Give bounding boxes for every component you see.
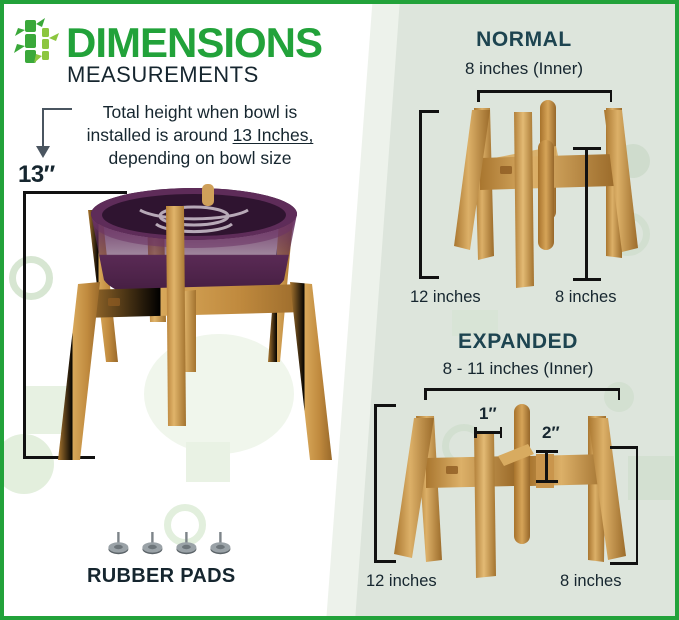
normal-width-bracket-vert — [419, 110, 422, 278]
rail-height-marker-vert — [545, 450, 548, 482]
expanded-height-bracket-top — [610, 446, 638, 449]
callout-text: Total height when bowl is installed is a… — [66, 101, 334, 170]
callout-emphasis: 13 Inches, — [233, 125, 314, 145]
dimensions-infographic: DIMENSIONS MEASUREMENTS Total height whe… — [0, 0, 679, 620]
rubber-pad-tack-icon — [141, 531, 164, 557]
callout-arrow-icon — [36, 146, 50, 158]
normal-height-bracket-bottom — [573, 278, 601, 281]
normal-height-label: 8 inches — [555, 288, 616, 307]
rail-height-label: 2″ — [542, 423, 560, 443]
bamboo-stand-expanded-diagram — [382, 400, 668, 580]
expanded-section-title: EXPANDED — [368, 330, 668, 354]
bamboo-logo — [14, 16, 64, 68]
normal-height-bracket-vert — [585, 147, 588, 280]
post-width-label: 1″ — [479, 404, 497, 424]
expanded-width-bracket-bottom — [374, 560, 396, 563]
rubber-pads-label: RUBBER PADS — [87, 565, 236, 588]
post-width-marker-right — [500, 427, 503, 438]
callout-line-2-pre: installed is around — [87, 125, 233, 145]
expanded-width-label: 12 inches — [366, 572, 437, 591]
product-illustration — [44, 172, 344, 472]
normal-width-bracket-top — [419, 110, 439, 113]
normal-inner-bracket-top — [477, 90, 612, 93]
rail-height-marker-top — [536, 450, 558, 453]
expanded-height-bracket-vert — [636, 446, 639, 564]
bamboo-stand-normal-diagram — [428, 100, 668, 290]
rubber-pad-tack-icon — [175, 531, 198, 557]
expanded-width-bracket-top — [374, 404, 396, 407]
expanded-inner-bracket-right — [618, 388, 621, 400]
rubber-pads-group — [107, 531, 232, 557]
post-width-marker-bar — [474, 431, 502, 434]
expanded-width-bracket-vert — [374, 404, 377, 562]
expanded-section-subtitle: 8 - 11 inches (Inner) — [368, 359, 668, 379]
normal-width-label: 12 inches — [410, 288, 481, 307]
expanded-inner-bracket-left — [424, 388, 427, 400]
rubber-pad-tack-icon — [209, 531, 232, 557]
expanded-height-label: 8 inches — [560, 572, 621, 591]
normal-width-bracket-bottom — [419, 276, 439, 279]
rubber-pad-tack-icon — [107, 531, 130, 557]
callout-leader-vertical — [42, 108, 44, 150]
callout-line-1: Total height when bowl is — [103, 102, 298, 122]
page-subtitle: MEASUREMENTS — [67, 64, 259, 86]
normal-section-subtitle: 8 inches (Inner) — [374, 59, 674, 79]
normal-section-title: NORMAL — [374, 28, 674, 52]
page-title: DIMENSIONS — [66, 22, 322, 64]
rail-height-marker-bottom — [536, 480, 558, 483]
callout-line-3: depending on bowl size — [109, 148, 292, 168]
expanded-height-bracket-bottom — [610, 562, 638, 565]
post-width-marker-left — [474, 427, 477, 438]
height-bracket-vertical — [23, 191, 26, 459]
expanded-inner-bracket-top — [424, 388, 620, 391]
